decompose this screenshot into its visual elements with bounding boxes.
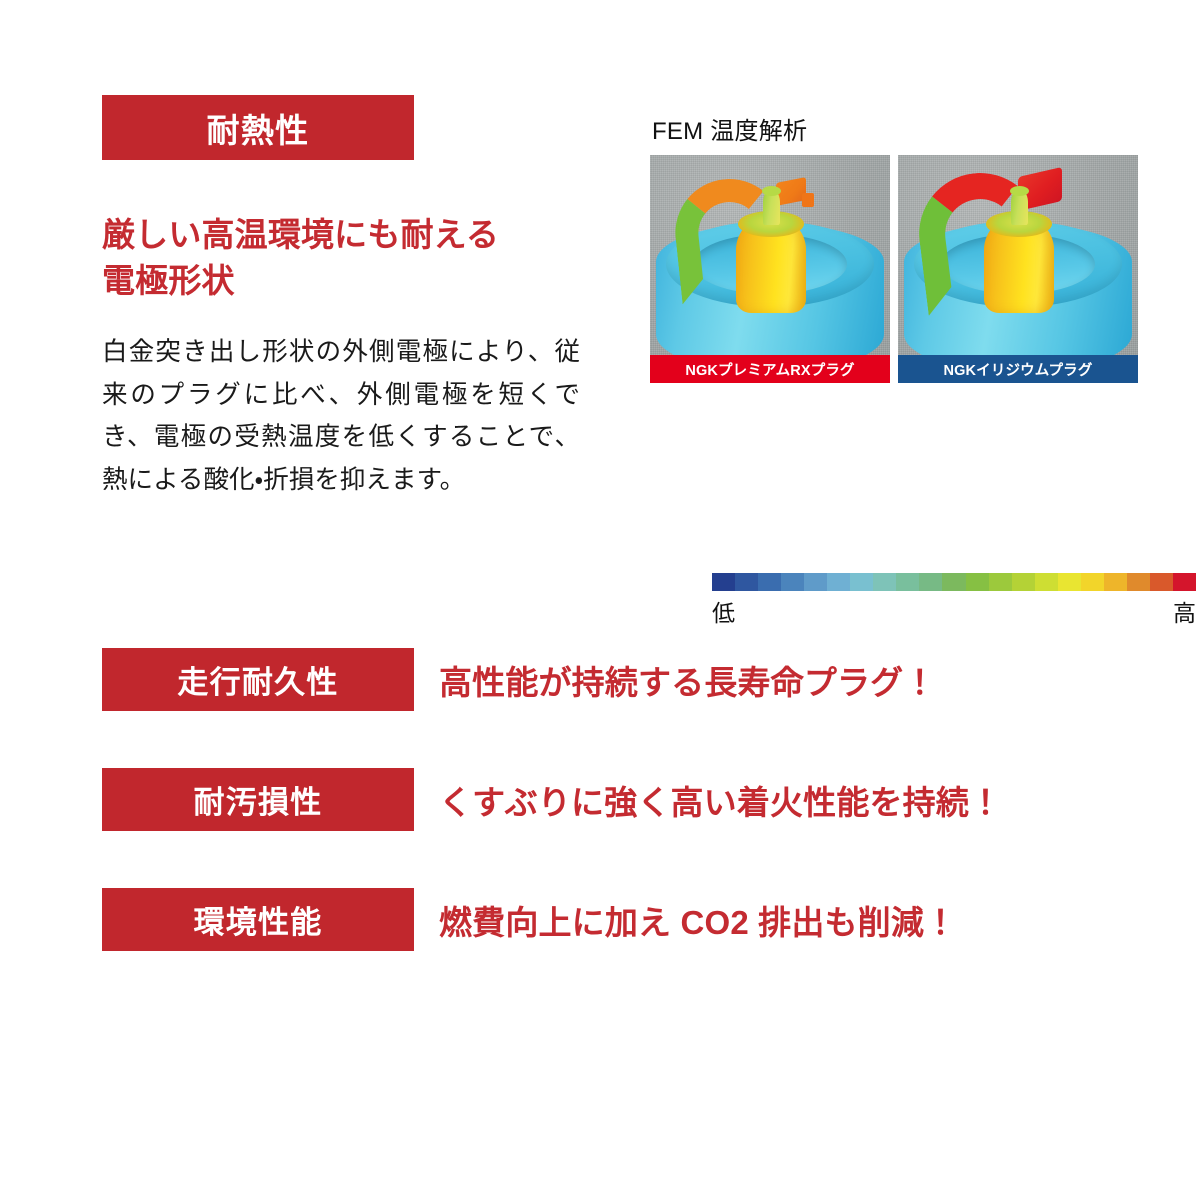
heat-resistance-copy: 厳しい高温環境にも耐える 電極形状 白金突き出し形状の外側電極により、従来のプラ…: [102, 185, 592, 528]
feature-row: 環境性能燃費向上に加え CO2 排出も削減！: [102, 888, 1102, 951]
platinum-tip-icon: [802, 193, 814, 207]
color-scale-band-7: [873, 573, 896, 591]
fem-analysis-figure: FEM 温度解析 NGKプレミアムRXプラグ: [650, 111, 1138, 383]
center-electrode-icon: [1011, 191, 1028, 225]
color-scale-band-12: [989, 573, 1012, 591]
color-scale-band-11: [966, 573, 989, 591]
color-scale-band-0: [712, 573, 735, 591]
color-scale-band-18: [1127, 573, 1150, 591]
color-scale-band-17: [1104, 573, 1127, 591]
fem-thermal-image-premium-rx: [650, 155, 890, 355]
color-scale-band-1: [735, 573, 758, 591]
scale-label-high: 高: [1173, 594, 1196, 628]
heat-resistance-section: 耐熱性 厳しい高温環境にも耐える 電極形状 白金突き出し形状の外側電極により、従…: [102, 95, 1098, 160]
color-scale-band-2: [758, 573, 781, 591]
heat-resistance-headline: 厳しい高温環境にも耐える 電極形状: [102, 212, 592, 303]
heat-resistance-badge: 耐熱性: [102, 95, 414, 160]
color-scale-labels: 低 高: [712, 594, 1196, 628]
feature-text-1: くすぶりに強く高い着火性能を持続！: [439, 776, 1002, 824]
feature-rows: 走行耐久性高性能が持続する長寿命プラグ！耐汚損性くすぶりに強く高い着火性能を持続…: [102, 648, 1102, 951]
feature-row: 走行耐久性高性能が持続する長寿命プラグ！: [102, 648, 1102, 711]
color-scale-band-6: [850, 573, 873, 591]
color-scale-band-14: [1035, 573, 1058, 591]
color-scale-band-9: [919, 573, 942, 591]
color-scale-band-20: [1173, 573, 1196, 591]
color-scale-band-4: [804, 573, 827, 591]
scale-label-low: 低: [712, 594, 735, 628]
feature-badge-2: 環境性能: [102, 888, 414, 951]
feature-badge-1: 耐汚損性: [102, 768, 414, 831]
color-scale-band-13: [1012, 573, 1035, 591]
fem-panel-premium-rx: NGKプレミアムRXプラグ: [650, 155, 890, 383]
color-scale-band-5: [827, 573, 850, 591]
color-scale-band-15: [1058, 573, 1081, 591]
color-scale-band-19: [1150, 573, 1173, 591]
fem-panel-group: NGKプレミアムRXプラグ NGKイリジウムプラグ: [650, 155, 1138, 383]
temperature-color-scale: 低 高: [712, 573, 1196, 628]
fem-panel-iridium: NGKイリジウムプラグ: [898, 155, 1138, 383]
center-electrode-cap-icon: [1010, 186, 1029, 196]
feature-row: 耐汚損性くすぶりに強く高い着火性能を持続！: [102, 768, 1102, 831]
color-scale-band-10: [942, 573, 965, 591]
fem-thermal-image-iridium: [898, 155, 1138, 355]
color-scale-band-8: [896, 573, 919, 591]
feature-badge-0: 走行耐久性: [102, 648, 414, 711]
center-electrode-icon: [763, 191, 780, 225]
heat-resistance-body-text: 白金突き出し形状の外側電極により、従来のプラグに比べ、外側電極を短くでき、電極の…: [102, 331, 580, 502]
fem-analysis-caption: FEM 温度解析: [650, 111, 1138, 146]
feature-text-0: 高性能が持続する長寿命プラグ！: [439, 656, 936, 704]
feature-text-2: 燃費向上に加え CO2 排出も削減！: [439, 896, 957, 944]
center-electrode-cap-icon: [762, 186, 781, 196]
color-scale-bar: [712, 573, 1196, 591]
color-scale-band-3: [781, 573, 804, 591]
fem-panel-label-premium-rx: NGKプレミアムRXプラグ: [650, 355, 890, 383]
fem-panel-label-iridium: NGKイリジウムプラグ: [898, 355, 1138, 383]
color-scale-band-16: [1081, 573, 1104, 591]
